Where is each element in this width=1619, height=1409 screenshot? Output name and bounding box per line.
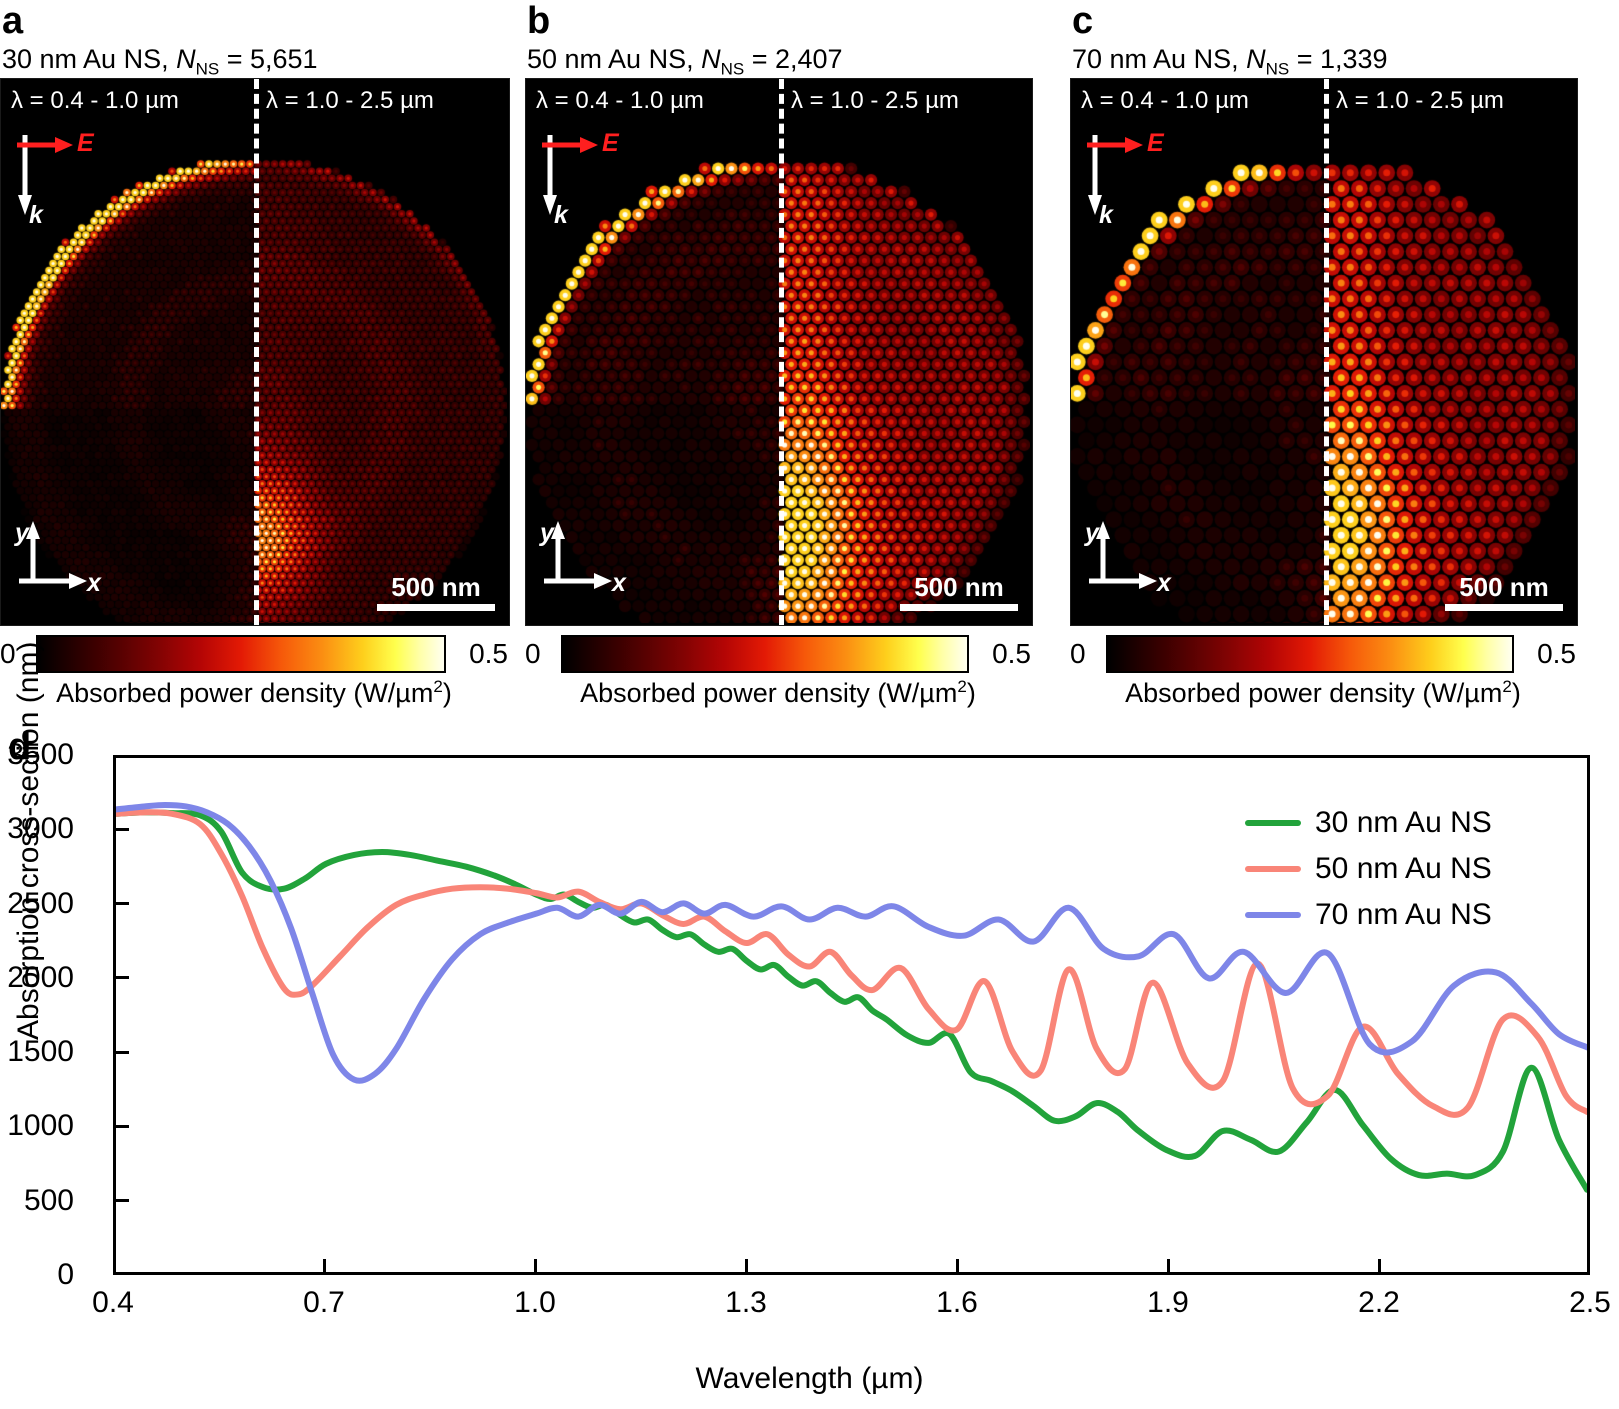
x-axis-label-b: x [612,569,626,598]
panel-title-subscript: NS [1266,59,1290,78]
colorbar-max-c: 0.5 [1520,640,1576,668]
colorbar-caption-close: ) [443,678,452,708]
coordinate-axes-indicator-b: yx [540,519,650,614]
colorbar-b: 00.5 [525,634,1031,674]
scale-bar-label-b: 500 nm [900,574,1018,601]
y-tick-mark [116,902,129,905]
colorbar-min-c: 0 [1070,640,1100,668]
wavelength-range-right-a: λ = 1.0 - 2.5 µm [266,87,434,115]
colorbar-caption-exponent: 2 [957,677,966,696]
scale-bar-label-a: 500 nm [377,574,495,601]
colorbar-min-b: 0 [525,640,555,668]
scale-bar-line-a [377,604,495,611]
field-direction-indicator-c: Ek [1085,123,1195,233]
legend-swatch [1245,866,1301,872]
colorbar-max-b: 0.5 [975,640,1031,668]
y-tick-mark [116,976,129,979]
panel-label-c: c [1072,2,1093,40]
legend-label: 50 nm Au NS [1315,854,1492,884]
colorbar-a: 00.5 [0,634,508,674]
e-field-label-b: E [602,129,619,158]
legend-swatch [1245,912,1301,918]
colorbar-caption-c: Absorbed power density (W/µm2) [1070,678,1576,707]
xy-axes-icon [1085,519,1195,614]
colorbar-caption-text: Absorbed power density (W/µm [56,678,433,708]
y-axis-label-a: y [15,519,29,548]
x-tick-label: 2.5 [1569,1288,1611,1318]
map-panel-c: c70 nm Au NS, NNS = 1,339λ = 0.4 - 1.0 µ… [1070,0,1580,720]
k-vector-label-a: k [29,201,43,230]
x-tick-label: 0.7 [303,1288,345,1318]
colorbar-max-a: 0.5 [452,640,508,668]
panel-title-prefix: 70 nm Au NS, [1072,44,1246,74]
chart-legend: 30 nm Au NS50 nm Au NS70 nm Au NS [1245,800,1575,938]
x-axis-label-a: x [87,569,101,598]
x-tick-mark [1378,1259,1381,1272]
e-field-label-a: E [77,129,94,158]
colorbar-caption-a: Absorbed power density (W/µm2) [0,678,508,707]
wavelength-range-left-c: λ = 0.4 - 1.0 µm [1081,87,1249,115]
panel-title-symbol: N [176,44,196,74]
k-vector-label-c: k [1099,201,1113,230]
x-axis-label-c: x [1157,569,1171,598]
colorbar-caption-exponent: 2 [433,677,442,696]
colorbar-caption-close: ) [967,678,976,708]
x-tick-label: 2.2 [1358,1288,1400,1318]
panel-title-suffix: = 5,651 [219,44,317,74]
field-direction-indicator-a: Ek [15,123,125,233]
panel-title-subscript: NS [721,59,745,78]
wavelength-range-left-a: λ = 0.4 - 1.0 µm [11,87,179,115]
x-tick-label: 1.6 [936,1288,978,1318]
scale-bar-c: 500 nm [1445,574,1563,611]
colorbar-gradient-c [1106,635,1514,673]
x-tick-mark [745,1259,748,1272]
coordinate-axes-indicator-c: yx [1085,519,1195,614]
e-field-label-c: E [1147,129,1164,158]
y-tick-label: 3000 [7,814,74,844]
half-split-divider-a [254,79,259,625]
scale-bar-a: 500 nm [377,574,495,611]
panel-title-b: 50 nm Au NS, NNS = 2,407 [527,46,843,77]
scale-bar-line-c [1445,604,1563,611]
absorbed-power-map-a: λ = 0.4 - 1.0 µmλ = 1.0 - 2.5 µmEkyx500 … [0,78,510,626]
panel-title-symbol: N [701,44,721,74]
panel-title-suffix: = 1,339 [1289,44,1387,74]
colorbar-caption-close: ) [1512,678,1521,708]
x-tick-label: 1.3 [725,1288,767,1318]
legend-item-70-nm-au-ns[interactable]: 70 nm Au NS [1245,892,1575,938]
xy-axes-icon [15,519,125,614]
y-tick-label: 0 [57,1260,74,1290]
colorbar-caption-b: Absorbed power density (W/µm2) [525,678,1031,707]
panel-title-symbol: N [1246,44,1266,74]
panel-label-a: a [2,2,23,40]
panel-title-subscript: NS [196,59,220,78]
panel-title-suffix: = 2,407 [744,44,842,74]
map-panel-a: a30 nm Au NS, NNS = 5,651λ = 0.4 - 1.0 µ… [0,0,510,720]
absorbed-power-map-c: λ = 0.4 - 1.0 µmλ = 1.0 - 2.5 µmEkyx500 … [1070,78,1578,626]
y-tick-label: 1000 [7,1111,74,1141]
xy-axes-icon [540,519,650,614]
wavelength-range-left-b: λ = 0.4 - 1.0 µm [536,87,704,115]
panel-title-a: 30 nm Au NS, NNS = 5,651 [2,46,318,77]
half-split-divider-b [779,79,784,625]
y-tick-mark [116,1199,129,1202]
x-axis-label: Wavelength (µm) [0,1362,1619,1396]
panel-title-c: 70 nm Au NS, NNS = 1,339 [1072,46,1388,77]
legend-label: 30 nm Au NS [1315,808,1492,838]
y-tick-label: 2000 [7,963,74,993]
field-direction-indicator-b: Ek [540,123,650,233]
scale-bar-b: 500 nm [900,574,1018,611]
y-tick-mark [116,828,129,831]
y-axis-label-c: y [1085,519,1099,548]
y-axis-label-b: y [540,519,554,548]
colorbar-c: 00.5 [1070,634,1576,674]
panel-label-b: b [527,2,550,40]
scale-bar-label-c: 500 nm [1445,574,1563,601]
wavelength-range-right-c: λ = 1.0 - 2.5 µm [1336,87,1504,115]
legend-swatch [1245,820,1301,826]
absorbed-power-map-b: λ = 0.4 - 1.0 µmλ = 1.0 - 2.5 µmEkyx500 … [525,78,1033,626]
x-tick-mark [956,1259,959,1272]
nanosphere-map-panel-row: a30 nm Au NS, NNS = 5,651λ = 0.4 - 1.0 µ… [0,0,1619,720]
y-tick-label: 500 [24,1186,74,1216]
coordinate-axes-indicator-a: yx [15,519,125,614]
colorbar-gradient-b [561,635,969,673]
wavelength-range-right-b: λ = 1.0 - 2.5 µm [791,87,959,115]
y-tick-label: 3500 [7,740,74,770]
x-tick-mark [534,1259,537,1272]
colorbar-caption-text: Absorbed power density (W/µm [580,678,957,708]
legend-label: 70 nm Au NS [1315,900,1492,930]
colorbar-caption-text: Absorbed power density (W/µm [1125,678,1502,708]
y-tick-label: 1500 [7,1037,74,1067]
x-tick-label: 1.9 [1147,1288,1189,1318]
legend-item-50-nm-au-ns[interactable]: 50 nm Au NS [1245,846,1575,892]
map-panel-b: b50 nm Au NS, NNS = 2,407λ = 0.4 - 1.0 µ… [525,0,1035,720]
x-tick-mark [1167,1259,1170,1272]
half-split-divider-c [1324,79,1329,625]
x-tick-label: 1.0 [514,1288,556,1318]
y-tick-mark [116,1125,129,1128]
panel-title-prefix: 50 nm Au NS, [527,44,701,74]
y-tick-mark [116,1051,129,1054]
panel-title-prefix: 30 nm Au NS, [2,44,176,74]
legend-item-30-nm-au-ns[interactable]: 30 nm Au NS [1245,800,1575,846]
scale-bar-line-b [900,604,1018,611]
colorbar-gradient-a [36,635,446,673]
y-tick-label: 2500 [7,889,74,919]
colorbar-caption-exponent: 2 [1502,677,1511,696]
k-vector-label-b: k [554,201,568,230]
x-tick-mark [323,1259,326,1272]
x-tick-label: 0.4 [92,1288,134,1318]
